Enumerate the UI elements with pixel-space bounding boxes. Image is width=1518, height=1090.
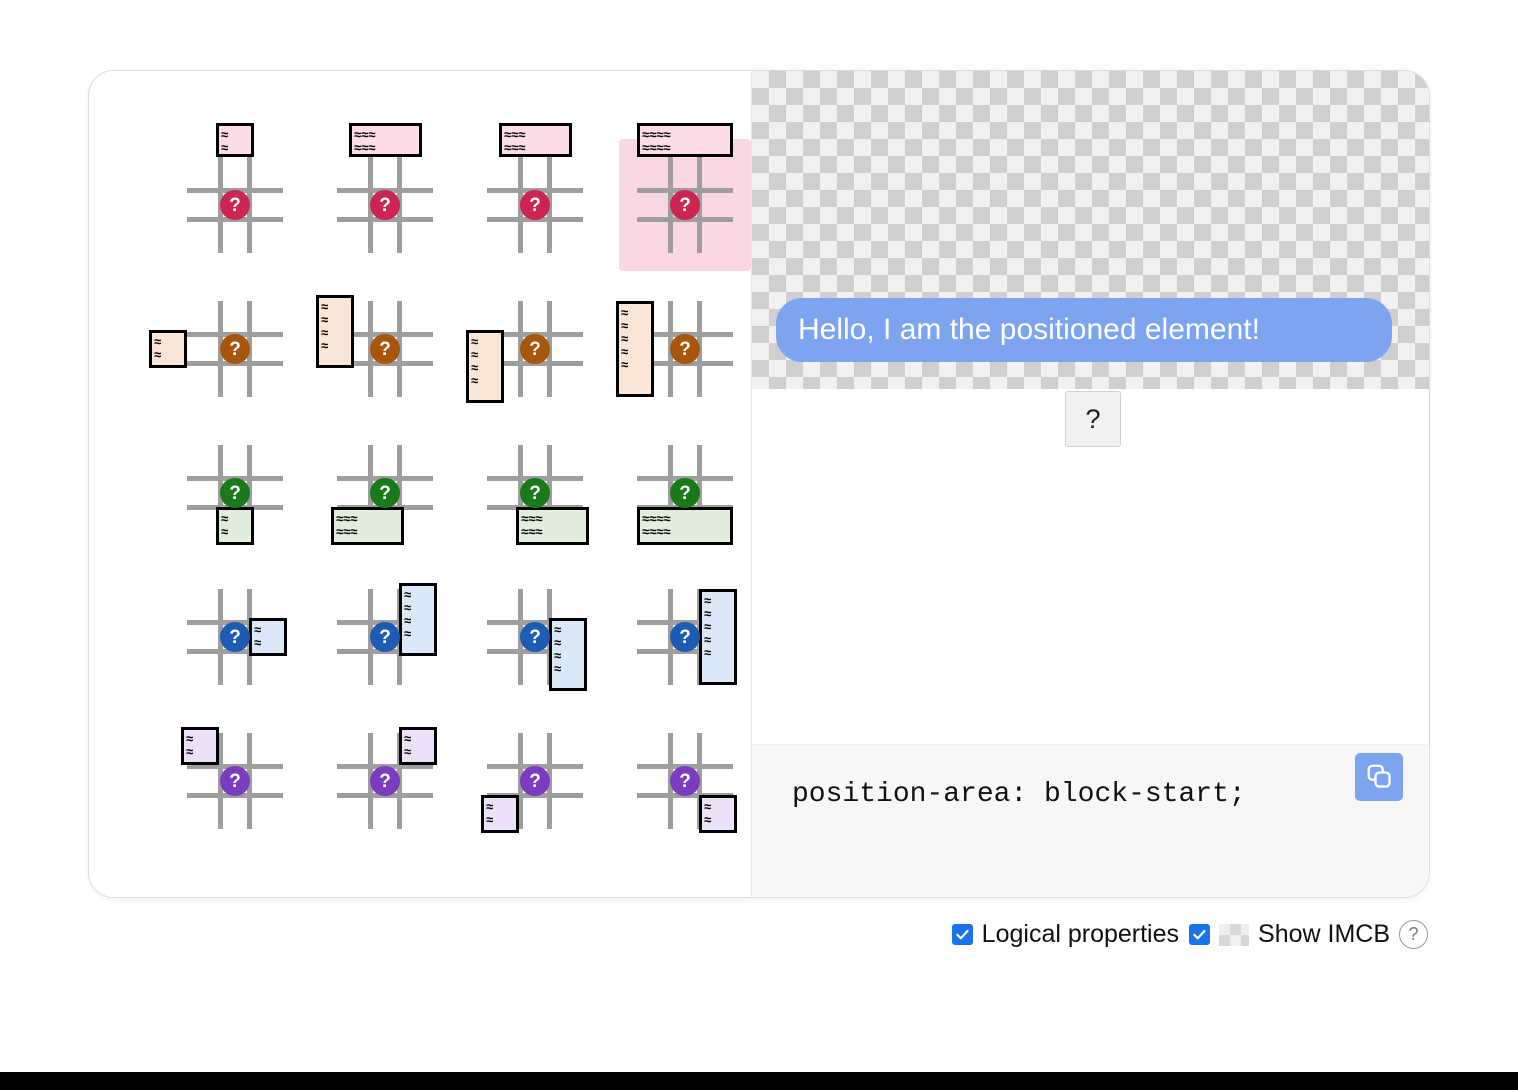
code-panel: position-area: block-start; — [752, 744, 1429, 897]
tic-tac-toe-grid-lines: ≈≈≈≈? — [487, 589, 583, 685]
tic-tac-toe-grid-lines: ≈≈≈≈≈≈? — [487, 445, 583, 541]
tic-tac-toe-grid-lines: ≈≈≈≈? — [487, 301, 583, 397]
anchor-dot-icon: ? — [520, 190, 550, 220]
positioned-box-preview: ≈≈≈≈≈≈ — [499, 123, 572, 157]
positioned-box-preview: ≈≈≈≈ — [549, 618, 587, 691]
copy-icon — [1365, 762, 1393, 793]
anchor-dot-icon: ? — [670, 478, 700, 508]
positioned-box-preview: ≈≈ — [481, 795, 519, 833]
tic-tac-toe-grid-lines: ≈≈≈≈? — [337, 301, 433, 397]
position-area-option-inline-end-row-1[interactable]: ≈≈≈≈? — [319, 571, 451, 703]
positioned-box-preview: ≈≈≈≈≈ — [616, 301, 654, 397]
tic-tac-toe-grid-lines: ≈≈≈≈≈≈≈≈? — [637, 157, 733, 253]
anchor-dot-icon: ? — [370, 478, 400, 508]
anchor-dot-icon: ? — [370, 766, 400, 796]
preview-pane: Hello, I am the positioned element! ? po… — [751, 71, 1429, 897]
show-imcb-label: Show IMCB — [1258, 920, 1390, 949]
tic-tac-toe-grid-lines: ≈≈≈≈≈≈≈≈? — [637, 445, 733, 541]
tic-tac-toe-grid-lines: ≈≈? — [337, 733, 433, 829]
anchor-dot-icon: ? — [220, 622, 250, 652]
anchor-dot-icon: ? — [220, 766, 250, 796]
positioned-box-preview: ≈≈≈≈ — [399, 583, 437, 656]
positioned-box-preview: ≈≈≈≈≈≈≈≈ — [637, 123, 733, 157]
position-area-option-block-end-row-3[interactable]: ≈≈≈≈≈≈≈≈? — [619, 427, 751, 559]
position-area-option-inline-start-row-3[interactable]: ≈≈≈≈≈? — [619, 283, 751, 415]
position-area-option-block-end-row-2[interactable]: ≈≈≈≈≈≈? — [469, 427, 601, 559]
tic-tac-toe-grid-lines: ≈≈≈≈≈≈? — [487, 157, 583, 253]
position-area-option-corner-row-0[interactable]: ≈≈? — [169, 715, 301, 847]
position-area-grid[interactable]: ≈≈?≈≈≈≈≈≈?≈≈≈≈≈≈?≈≈≈≈≈≈≈≈?≈≈?≈≈≈≈?≈≈≈≈?≈… — [169, 139, 751, 847]
positioned-box-preview: ≈≈ — [399, 727, 437, 765]
anchor-dot-icon: ? — [220, 334, 250, 364]
positioned-box-preview: ≈≈ — [699, 795, 737, 833]
position-area-option-inline-start-row-2[interactable]: ≈≈≈≈? — [469, 283, 601, 415]
tic-tac-toe-grid-lines: ≈≈? — [187, 157, 283, 253]
tic-tac-toe-grid-lines: ≈≈? — [187, 589, 283, 685]
imcb-checkerboard-surface: Hello, I am the positioned element! — [752, 71, 1429, 389]
position-area-option-inline-start-row-0[interactable]: ≈≈? — [169, 283, 301, 415]
logical-properties-control[interactable]: Logical properties — [952, 920, 1179, 949]
positioned-box-preview: ≈≈ — [181, 727, 219, 765]
show-imcb-control[interactable]: Show IMCB ? — [1189, 920, 1428, 949]
anchor-dot-icon: ? — [520, 622, 550, 652]
positioned-box-preview: ≈≈≈≈≈≈ — [331, 507, 404, 545]
position-area-option-corner-row-3[interactable]: ≈≈? — [619, 715, 751, 847]
position-area-option-block-start-row-1[interactable]: ≈≈≈≈≈≈? — [319, 139, 451, 271]
tic-tac-toe-grid-lines: ≈≈? — [487, 733, 583, 829]
position-area-option-block-end-row-0[interactable]: ≈≈? — [169, 427, 301, 559]
copy-icon-button[interactable] — [1355, 753, 1403, 801]
position-area-option-block-start-row-0[interactable]: ≈≈? — [169, 139, 301, 271]
tic-tac-toe-grid-lines: ≈≈≈≈≈? — [637, 301, 733, 397]
position-area-option-corner-row-1[interactable]: ≈≈? — [319, 715, 451, 847]
anchor-dot-icon: ? — [520, 478, 550, 508]
positioned-box-preview: ≈≈ — [149, 330, 187, 368]
anchor-dot-icon: ? — [670, 334, 700, 364]
help-icon[interactable]: ? — [1399, 920, 1428, 949]
anchor-dot-icon: ? — [220, 478, 250, 508]
position-area-option-block-start-row-2[interactable]: ≈≈≈≈≈≈? — [469, 139, 601, 271]
anchor-dot-icon: ? — [370, 190, 400, 220]
positioned-box-preview: ≈≈≈≈≈≈ — [349, 123, 422, 157]
tic-tac-toe-grid-lines: ≈≈? — [637, 733, 733, 829]
positioned-box-preview: ≈≈≈≈ — [466, 330, 504, 403]
positioned-box-preview: ≈≈ — [216, 123, 254, 157]
anchor-dot-icon: ? — [520, 334, 550, 364]
anchor-dot-icon: ? — [670, 622, 700, 652]
positioned-element-bubble: Hello, I am the positioned element! — [776, 298, 1392, 362]
logical-properties-checkbox[interactable] — [952, 924, 973, 945]
position-area-demo-card: ≈≈?≈≈≈≈≈≈?≈≈≈≈≈≈?≈≈≈≈≈≈≈≈?≈≈?≈≈≈≈?≈≈≈≈?≈… — [88, 70, 1430, 898]
position-area-option-inline-start-row-1[interactable]: ≈≈≈≈? — [319, 283, 451, 415]
anchor-dot-icon: ? — [670, 766, 700, 796]
tic-tac-toe-grid-lines: ≈≈≈≈? — [337, 589, 433, 685]
footer-controls: Logical properties Show IMCB ? — [0, 920, 1428, 949]
position-area-chooser-pane: ≈≈?≈≈≈≈≈≈?≈≈≈≈≈≈?≈≈≈≈≈≈≈≈?≈≈?≈≈≈≈?≈≈≈≈?≈… — [89, 71, 751, 897]
positioned-box-preview: ≈≈ — [216, 507, 254, 545]
show-imcb-checkbox[interactable] — [1189, 924, 1210, 945]
anchor-dot-icon: ? — [670, 190, 700, 220]
tic-tac-toe-grid-lines: ≈≈? — [187, 301, 283, 397]
positioned-box-preview: ≈≈ — [249, 618, 287, 656]
tic-tac-toe-grid-lines: ≈≈? — [187, 445, 283, 541]
anchor-dot-icon: ? — [370, 622, 400, 652]
logical-properties-label: Logical properties — [982, 920, 1179, 949]
imcb-checkerboard-swatch — [1219, 924, 1249, 946]
positioned-box-preview: ≈≈≈≈≈≈ — [516, 507, 589, 545]
position-area-option-inline-end-row-2[interactable]: ≈≈≈≈? — [469, 571, 601, 703]
check-icon — [955, 927, 970, 942]
anchor-dot-icon: ? — [220, 190, 250, 220]
tic-tac-toe-grid-lines: ≈≈≈≈≈≈? — [337, 445, 433, 541]
css-code-text: position-area: block-start; — [792, 779, 1246, 810]
tic-tac-toe-grid-lines: ≈≈≈≈≈? — [637, 589, 733, 685]
anchor-dot-icon: ? — [370, 334, 400, 364]
position-area-option-block-end-row-1[interactable]: ≈≈≈≈≈≈? — [319, 427, 451, 559]
position-area-option-inline-end-row-0[interactable]: ≈≈? — [169, 571, 301, 703]
positioned-box-preview: ≈≈≈≈≈≈≈≈ — [637, 507, 733, 545]
position-area-option-block-start-row-3[interactable]: ≈≈≈≈≈≈≈≈? — [619, 139, 751, 271]
tic-tac-toe-grid-lines: ≈≈? — [187, 733, 283, 829]
position-area-option-inline-end-row-3[interactable]: ≈≈≈≈≈? — [619, 571, 751, 703]
anchor-element-button[interactable]: ? — [1065, 391, 1121, 447]
page-bottom-bar — [0, 1072, 1518, 1090]
check-icon — [1192, 927, 1207, 942]
positioned-box-preview: ≈≈≈≈ — [316, 295, 354, 368]
positioned-box-preview: ≈≈≈≈≈ — [699, 589, 737, 685]
tic-tac-toe-grid-lines: ≈≈≈≈≈≈? — [337, 157, 433, 253]
anchor-dot-icon: ? — [520, 766, 550, 796]
position-area-option-corner-row-2[interactable]: ≈≈? — [469, 715, 601, 847]
